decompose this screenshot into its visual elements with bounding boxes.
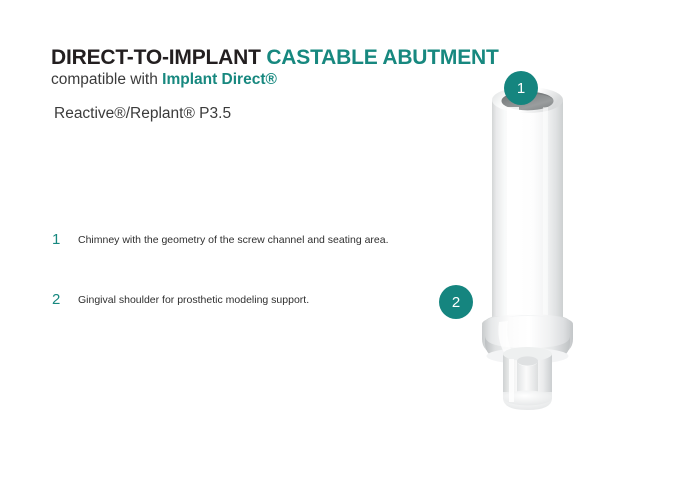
feature-text-1: Chimney with the geometry of the screw c… (78, 231, 389, 247)
feature-item-2: 2 Gingival shoulder for prosthetic model… (52, 291, 309, 307)
product-spec-slide: DIRECT-TO-IMPLANT CASTABLE ABUTMENT comp… (0, 0, 700, 500)
page-title: DIRECT-TO-IMPLANT CASTABLE ABUTMENT (51, 46, 499, 70)
compatible-brand: Implant Direct® (162, 71, 277, 88)
callout-badge-2: 2 (439, 285, 473, 319)
feature-number-2: 2 (52, 291, 78, 307)
title-primary: DIRECT-TO-IMPLANT (51, 46, 261, 69)
implant-connection-post (503, 347, 552, 410)
abutment-body (492, 87, 563, 337)
feature-text-2: Gingival shoulder for prosthetic modelin… (78, 291, 309, 307)
feature-item-1: 1 Chimney with the geometry of the screw… (52, 231, 389, 247)
feature-number-1: 1 (52, 231, 78, 247)
castable-abutment-illustration (455, 60, 635, 420)
callout-badge-1: 1 (504, 71, 538, 105)
compatible-prefix: compatible with (51, 71, 158, 88)
compatible-model: Reactive®/Replant® P3.5 (54, 105, 231, 123)
compatibility-line: compatible with Implant Direct® (51, 71, 277, 89)
